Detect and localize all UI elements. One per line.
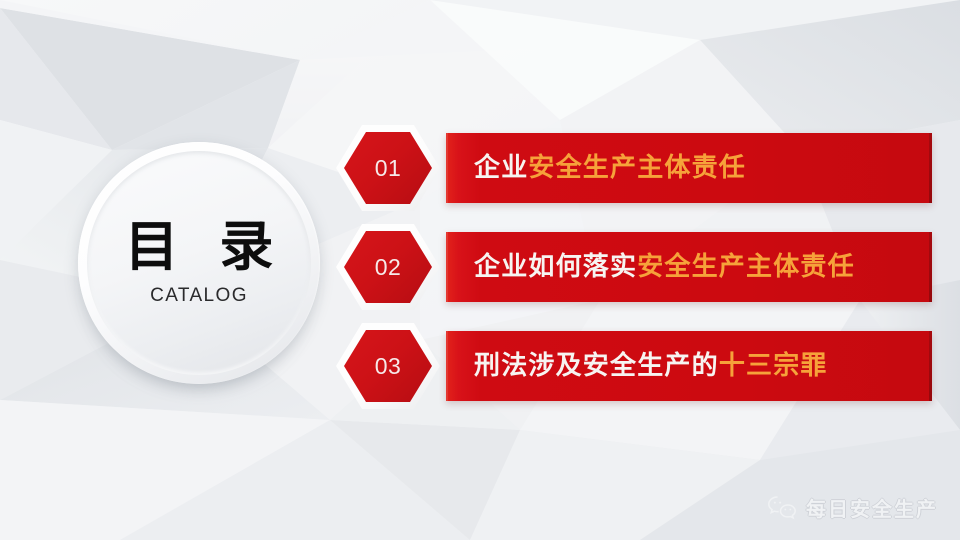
- slide-canvas: 目 录 CATALOG 01 企业安全生产主体责任 02: [0, 0, 960, 540]
- agenda-item-03-number: 03: [375, 353, 402, 380]
- watermark-text: 每日安全生产: [806, 493, 938, 522]
- agenda-item-03-bar[interactable]: 刑法涉及安全生产的十三宗罪: [446, 331, 932, 401]
- agenda-item-01-bar[interactable]: 企业安全生产主体责任: [446, 133, 932, 203]
- hexagon-badge-03[interactable]: 03: [336, 323, 440, 409]
- agenda-item-01-label: 企业安全生产主体责任: [446, 155, 746, 181]
- agenda-item-03-label: 刑法涉及安全生产的十三宗罪: [446, 353, 828, 379]
- agenda-item-02-label-gold: 安全生产主体责任: [637, 252, 855, 282]
- agenda-item-03-label-white: 刑法涉及安全生产的: [474, 351, 719, 381]
- agenda-item-02-number: 02: [375, 254, 402, 281]
- hexagon-badge-03-inner: 03: [344, 330, 432, 402]
- agenda-item-01-number: 01: [375, 155, 402, 182]
- hexagon-badge-01[interactable]: 01: [336, 125, 440, 211]
- agenda-item-03-label-gold: 十三宗罪: [719, 351, 828, 381]
- agenda-item-01-label-white: 企业: [474, 153, 528, 183]
- agenda-item-02-label-white: 企业如何落实: [474, 252, 637, 282]
- wechat-icon: [767, 495, 797, 521]
- watermark: 每日安全生产: [767, 493, 938, 522]
- agenda-item-02-label: 企业如何落实安全生产主体责任: [446, 254, 855, 280]
- agenda-item-01-label-gold: 安全生产主体责任: [528, 153, 746, 183]
- agenda-item-02-bar[interactable]: 企业如何落实安全生产主体责任: [446, 232, 932, 302]
- hexagon-badge-02[interactable]: 02: [336, 224, 440, 310]
- hexagon-badge-01-inner: 01: [344, 132, 432, 204]
- hexagon-badge-02-inner: 02: [344, 231, 432, 303]
- agenda-list: 01 企业安全生产主体责任 02 企业如何落实安全生产主体责任: [0, 0, 960, 540]
